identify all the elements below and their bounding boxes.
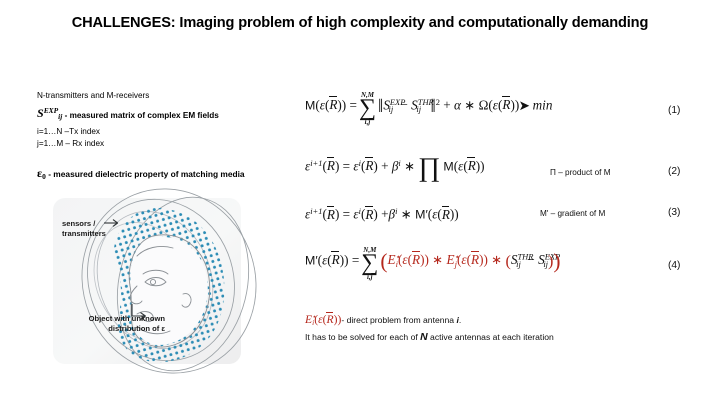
eps0-description: - measured dielectric property of matchi… <box>48 169 244 179</box>
figure-label-sensors-line2: transmitters <box>62 229 106 239</box>
bottom-note-line2: It has to be solved for each of N active… <box>305 330 705 345</box>
equation-4-row: M′(ε(R)) =N,M∑i,j(E⋆i(ε(R)) ∗ E⋆j(ε(R)) … <box>305 252 705 272</box>
figure-label-object: Object with unknown distribution of ε <box>55 314 165 333</box>
head-antenna-array-illustration <box>33 186 301 376</box>
eps0-subscript: 0 <box>42 172 46 181</box>
bottom-note-period: . <box>459 315 461 325</box>
antenna-count-symbol: N <box>420 332 428 343</box>
definition-sexp: SEXPij - measured matrix of complex EM f… <box>37 104 297 126</box>
bottom-note-block: E⋆i(ε(R))- direct problem from antenna i… <box>305 310 705 345</box>
sum-upper-limit: N,M <box>363 247 376 254</box>
equation-2-number: (2) <box>668 166 680 177</box>
bottom-note-line2-suffix: active antennas at each iteration <box>430 332 554 342</box>
sum-lower-limit: i,j <box>365 119 371 126</box>
sexp-description: - measured matrix of complex EM fields <box>65 110 219 119</box>
equation-2-row: εi+1(R) = εi(R) + βi ∗∏M(ε(R)) Π – produ… <box>305 157 705 175</box>
equation-3-row: εi+1(R) = εi(R) +βi ∗ M′(ε(R)) M' – grad… <box>305 205 705 223</box>
arrow-right-icon: ➤ <box>519 98 529 112</box>
equation-1-target: min <box>533 97 553 112</box>
sexp-subscript: ij <box>58 113 62 122</box>
equation-1-number: (1) <box>668 105 680 116</box>
equation-4-body: M′(ε(R)) =N,M∑i,j(E⋆i(ε(R)) ∗ E⋆j(ε(R)) … <box>305 252 561 272</box>
page-title: CHALLENGES: Imaging problem of high comp… <box>0 15 720 31</box>
sexp-superscript: EXP <box>44 107 58 116</box>
summation-operator: N,M∑i,j <box>361 255 378 272</box>
eps0-symbol: ε0 <box>37 166 46 180</box>
equation-4-number: (4) <box>668 260 680 271</box>
definition-j-index: j=1…M – Rx index <box>37 138 297 151</box>
equation-1-body: M(ε(R)) =N,M∑i,j‖SEXPij− STHRij‖2 + α ∗ … <box>305 97 552 117</box>
summation-operator: N,M∑i,j <box>359 100 376 117</box>
equation-3-body: εi+1(R) = εi(R) +βi ∗ M′(ε(R)) <box>305 206 459 222</box>
bottom-note-line1: E⋆i(ε(R))- direct problem from antenna i… <box>305 310 705 330</box>
equation-2-note: Π – product of M <box>550 168 611 177</box>
definitions-block: N-transmitters and M-receivers SEXPij - … <box>37 90 297 183</box>
equation-3-number: (3) <box>668 207 680 218</box>
imaging-setup-figure: sensors / transmitters Object with unkno… <box>33 186 301 376</box>
sexp-symbol: SEXPij <box>37 106 62 120</box>
definition-transmitters-receivers: N-transmitters and M-receivers <box>37 90 297 103</box>
direct-problem-description: - direct problem from antenna <box>341 315 454 325</box>
figure-label-sensors-line1: sensors / <box>62 219 106 229</box>
bottom-note-line2-prefix: It has to be solved for each of <box>305 332 418 342</box>
sum-upper-limit: N,M <box>361 92 374 99</box>
equation-3-note: M' – gradient of M <box>540 209 605 218</box>
definition-i-index: i=1…N –Tx index <box>37 126 297 139</box>
equation-1-row: M(ε(R)) =N,M∑i,j‖SEXPij− STHRij‖2 + α ∗ … <box>305 97 705 117</box>
figure-label-object-line2: distribution of ε <box>55 324 165 334</box>
direct-problem-symbol: E⋆i(ε(R)) <box>305 313 341 326</box>
sum-lower-limit: i,j <box>367 274 373 281</box>
product-operator: ∏ <box>418 159 440 175</box>
figure-label-object-line1: Object with unknown <box>55 314 165 324</box>
equation-2-body: εi+1(R) = εi(R) + βi ∗∏M(ε(R)) <box>305 158 485 175</box>
figure-label-sensors: sensors / transmitters <box>62 219 106 238</box>
definition-eps0: ε0 - measured dielectric property of mat… <box>37 167 297 184</box>
